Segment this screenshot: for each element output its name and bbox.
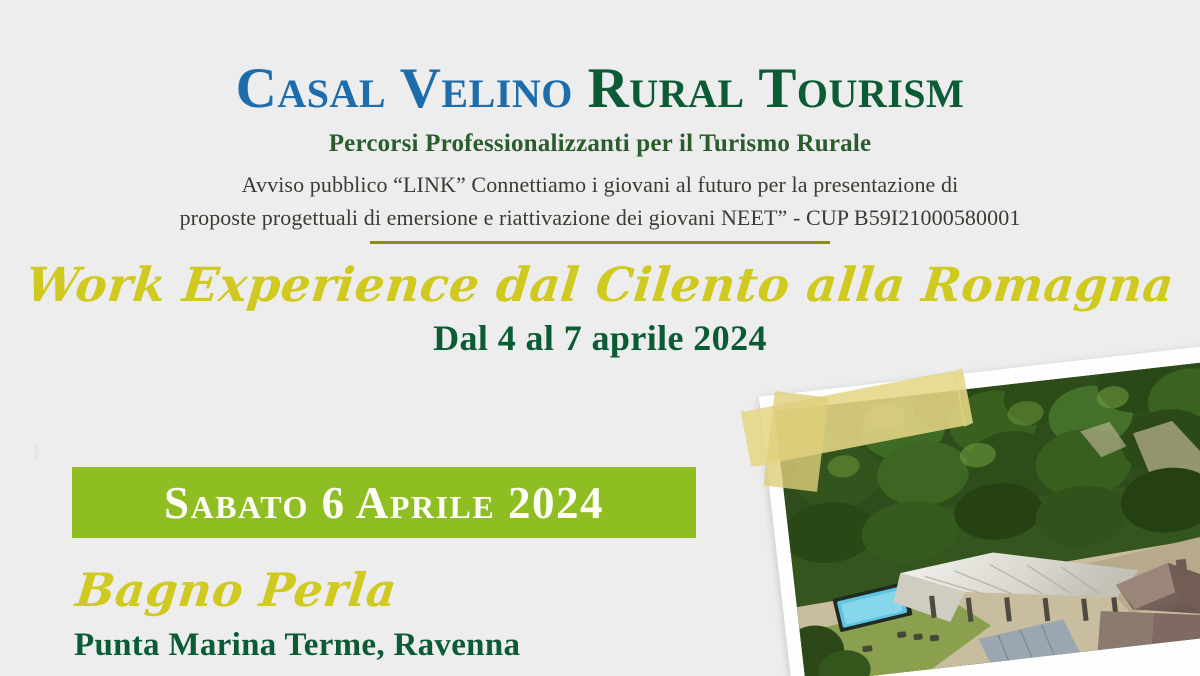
polaroid-photo — [759, 344, 1200, 676]
work-experience-headline: Work Experience dal Cilento alla Romagna — [0, 258, 1200, 313]
washi-tape-vertical — [763, 391, 828, 492]
subtitle: Percorsi Professionalizzanti per il Turi… — [0, 130, 1200, 158]
venue-city: Punta Marina Terme, Ravenna — [74, 627, 520, 664]
page-title: Casal Velino Rural Tourism — [0, 60, 1200, 117]
event-day-banner-label: Sabato 6 Aprile 2024 — [164, 477, 604, 529]
title-part-green: Rural Tourism — [588, 57, 965, 120]
public-notice-line-2: proposte progettuali di emersione e riat… — [0, 201, 1200, 234]
event-day-banner: Sabato 6 Aprile 2024 — [72, 467, 696, 538]
public-notice: Avviso pubblico “LINK” Connettiamo i gio… — [0, 168, 1200, 234]
polaroid-frame — [759, 344, 1200, 676]
title-part-blue: Casal Velino — [236, 57, 573, 120]
public-notice-line-1: Avviso pubblico “LINK” Connettiamo i gio… — [0, 168, 1200, 201]
section-divider — [370, 241, 830, 244]
event-date-range: Dal 4 al 7 aprile 2024 — [0, 317, 1200, 359]
background-speck — [34, 445, 39, 461]
venue-name: Bagno Perla — [73, 563, 399, 617]
poster-canvas: Casal Velino Rural Tourism Percorsi Prof… — [0, 0, 1200, 676]
